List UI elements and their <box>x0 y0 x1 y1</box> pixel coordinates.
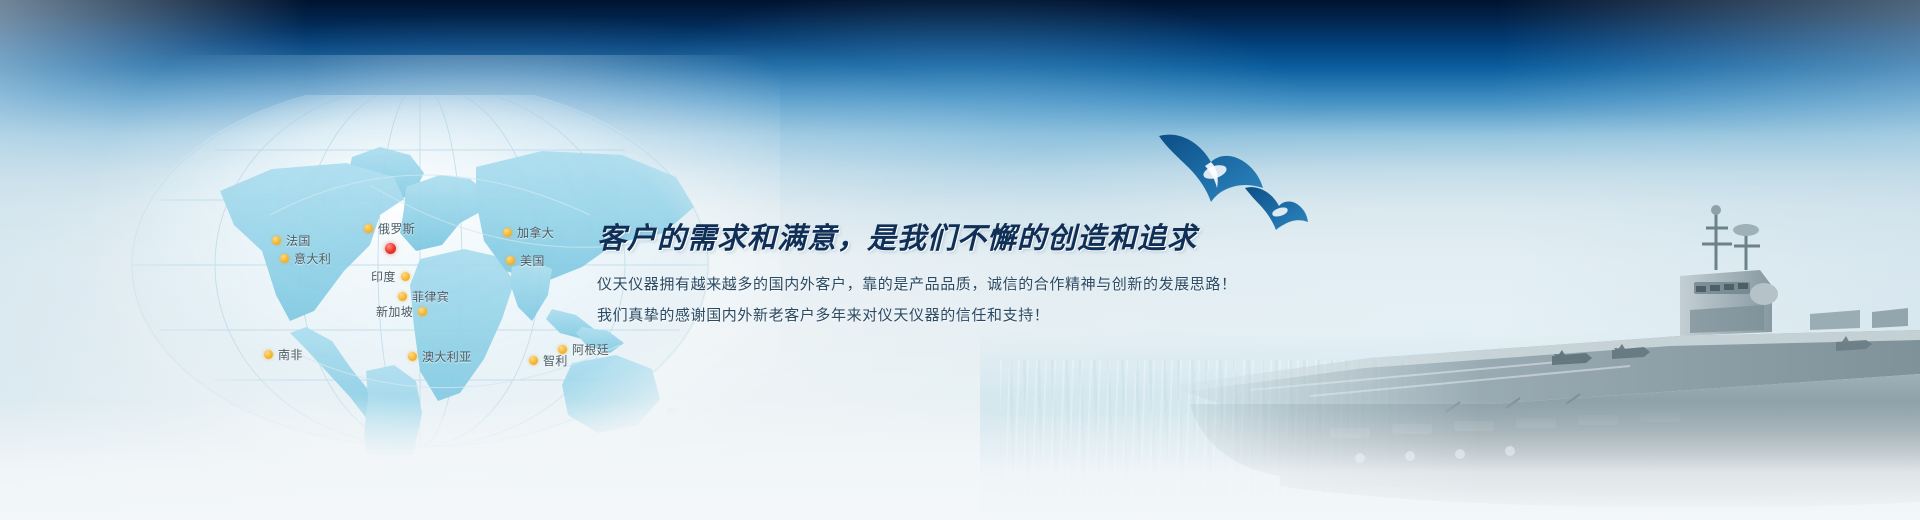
subtitle-line-2: 我们真挚的感谢国内外新老客户多年来对仪天仪器的信任和支持！ <box>597 306 1049 326</box>
location-pin-icon <box>529 356 538 365</box>
location-pin-icon <box>401 272 410 281</box>
map-marker-3: 印度 <box>371 268 410 285</box>
map-marker-highlight <box>385 243 396 254</box>
location-pin-icon <box>264 350 273 359</box>
location-pin-icon <box>385 243 396 254</box>
map-marker-11: 阿根廷 <box>558 341 609 358</box>
map-marker-9: 澳大利亚 <box>408 348 472 365</box>
map-marker-label: 美国 <box>520 252 545 269</box>
map-marker-label: 俄罗斯 <box>378 220 415 237</box>
map-marker-label: 澳大利亚 <box>422 348 472 365</box>
map-marker-4: 新加坡 <box>376 303 427 320</box>
location-pin-icon <box>408 352 417 361</box>
map-marker-2: 俄罗斯 <box>364 220 415 237</box>
map-marker-label: 意大利 <box>294 250 331 267</box>
hero-banner: 法国意大利俄罗斯印度新加坡菲律宾加拿大美国南非澳大利亚智利阿根廷 客户的需求和满… <box>0 0 1920 520</box>
map-marker-label: 法国 <box>286 232 311 249</box>
map-marker-0: 法国 <box>272 232 311 249</box>
map-marker-label: 新加坡 <box>376 303 413 320</box>
copy-block: 客户的需求和满意，是我们不懈的创造和追求 仪天仪器拥有越来越多的国内外客户，靠的… <box>597 222 1237 326</box>
map-marker-label: 加拿大 <box>517 224 554 241</box>
page-title: 客户的需求和满意，是我们不懈的创造和追求 <box>597 222 1197 257</box>
map-marker-label: 印度 <box>371 268 396 285</box>
map-marker-label: 阿根廷 <box>572 341 609 358</box>
map-marker-7: 美国 <box>506 252 545 269</box>
map-marker-label: 菲律宾 <box>412 288 449 305</box>
map-marker-5: 菲律宾 <box>398 288 449 305</box>
location-pin-icon <box>418 307 427 316</box>
location-pin-icon <box>506 256 515 265</box>
location-pin-icon <box>272 236 281 245</box>
bottom-fade <box>0 400 1920 520</box>
location-pin-icon <box>364 224 373 233</box>
location-pin-icon <box>280 254 289 263</box>
map-marker-label: 南非 <box>278 346 303 363</box>
location-pin-icon <box>398 292 407 301</box>
map-marker-1: 意大利 <box>280 250 331 267</box>
map-marker-8: 南非 <box>264 346 303 363</box>
location-pin-icon <box>558 345 567 354</box>
location-pin-icon <box>503 228 512 237</box>
subtitle-line-1: 仪天仪器拥有越来越多的国内外客户，靠的是产品品质，诚信的合作精神与创新的发展思路… <box>597 275 1237 295</box>
map-marker-6: 加拿大 <box>503 224 554 241</box>
